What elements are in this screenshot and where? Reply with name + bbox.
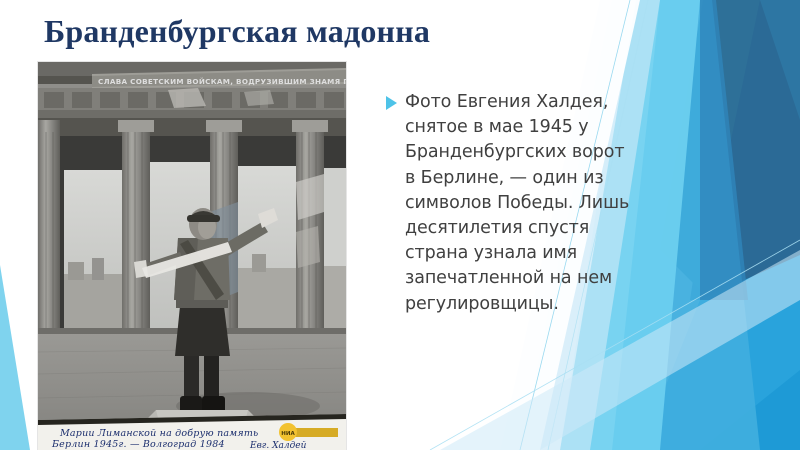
decor-steel-top-right — [690, 0, 800, 300]
handwriting-line-2: Берлин 1945г. — Волгоград 1984 — [51, 439, 225, 450]
body-text: Фото Евгения Халдея, снятое в мае 1945 у… — [405, 90, 638, 317]
handwriting-line-1: Марии Лиманской на добрую память — [59, 428, 258, 439]
triangle-right-bullet-icon — [386, 96, 397, 110]
stamp-label: НИА — [281, 431, 295, 437]
handwriting-signature: Евг. Халдей — [249, 441, 307, 450]
left-corner-triangle — [0, 265, 30, 450]
historic-photo: СЛАВА СОВЕТСКИМ ВОЙСКАМ, ВОДРУЗИВШИМ ЗНА… — [38, 62, 346, 450]
decor-azure-band — [700, 370, 800, 450]
decor-azure-lower-right — [640, 255, 800, 450]
decor-steel-wedge — [660, 0, 760, 290]
banner-text: СЛАВА СОВЕТСКИМ ВОЙСКАМ, ВОДРУЗИВШИМ ЗНА… — [98, 77, 346, 86]
decor-blue-column-dark — [700, 0, 748, 300]
presentation-slide: Бранденбургская мадонна — [0, 0, 800, 450]
body-bullet-item: Фото Евгения Халдея, снятое в мае 1945 у… — [386, 90, 638, 317]
page-title: Бранденбургская мадонна — [44, 11, 604, 51]
decor-top-right-faint — [760, 0, 800, 120]
photo-artwork: СЛАВА СОВЕТСКИМ ВОЙСКАМ, ВОДРУЗИВШИМ ЗНА… — [38, 62, 346, 450]
